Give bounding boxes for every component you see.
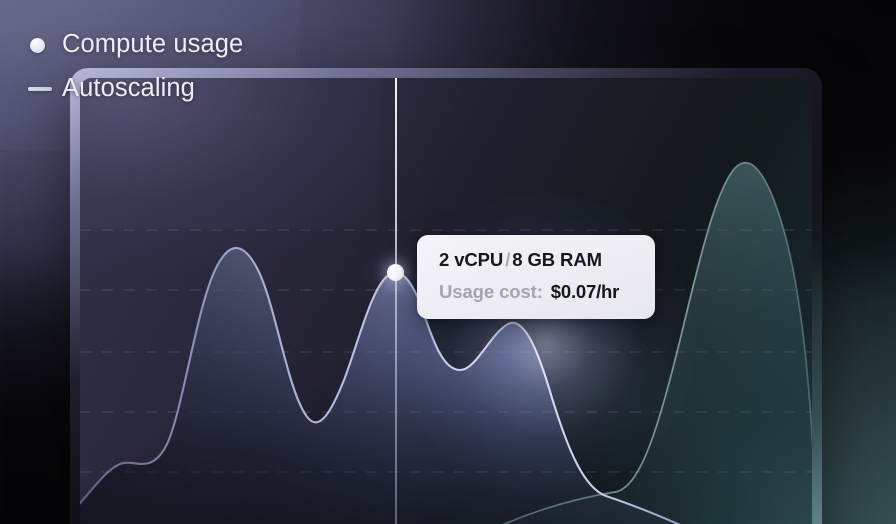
legend-label-autoscaling: Autoscaling bbox=[62, 76, 195, 102]
tooltip-cost-line: Usage cost:$0.07/hr bbox=[439, 283, 635, 302]
legend-label-compute-usage: Compute usage bbox=[62, 32, 243, 58]
data-point-marker[interactable] bbox=[387, 264, 404, 281]
chart-legend: Compute usage Autoscaling bbox=[28, 28, 243, 106]
tooltip-ram: 8 GB RAM bbox=[512, 249, 602, 270]
tooltip-vcpu: 2 vCPU bbox=[439, 249, 503, 270]
tooltip-cost-value: $0.07/hr bbox=[551, 281, 619, 302]
dash-marker-icon bbox=[28, 87, 62, 91]
screenshot-stage: Compute usage Autoscaling 2 vCPU/8 GB RA… bbox=[0, 0, 896, 524]
dot-marker-icon bbox=[28, 38, 62, 53]
legend-item-compute-usage[interactable]: Compute usage bbox=[28, 28, 243, 62]
tooltip-cost-label: Usage cost: bbox=[439, 281, 543, 302]
chart-tooltip: 2 vCPU/8 GB RAM Usage cost:$0.07/hr bbox=[417, 235, 655, 319]
legend-item-autoscaling[interactable]: Autoscaling bbox=[28, 72, 243, 106]
tooltip-separator: / bbox=[503, 249, 512, 270]
tooltip-spec-line: 2 vCPU/8 GB RAM bbox=[439, 251, 635, 270]
crosshair-line bbox=[395, 78, 397, 524]
